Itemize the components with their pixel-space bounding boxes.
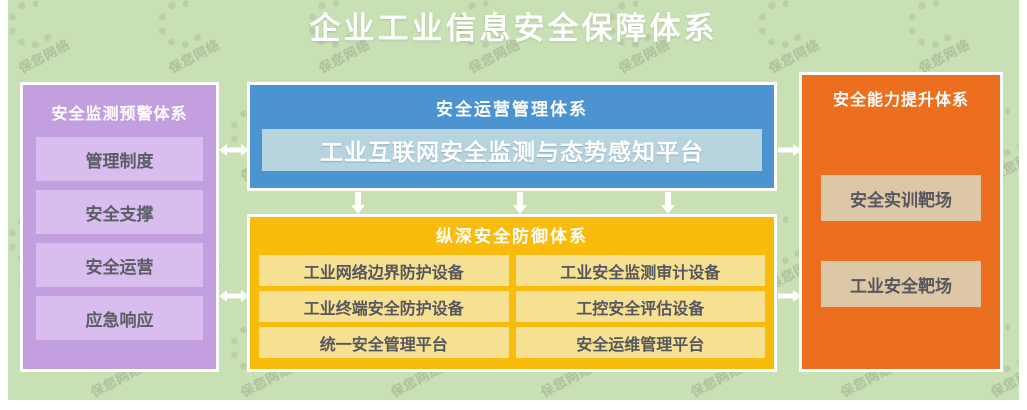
platform-bar-label: 工业互联网安全监测与态势感知平台 (320, 133, 704, 167)
panel-yellow-title: 纵深安全防御体系 (250, 225, 774, 249)
left-item-security-operations[interactable]: 安全运营 (36, 243, 203, 287)
panel-left-title: 安全监测预警体系 (23, 102, 216, 128)
panel-blue-title: 安全运营管理体系 (250, 98, 774, 122)
defense-item-network-boundary[interactable]: 工业网络边界防护设备 (259, 255, 509, 286)
defense-item-monitoring-audit[interactable]: 工业安全监测审计设备 (516, 255, 766, 286)
defense-item-endpoint-protection[interactable]: 工业终端安全防护设备 (259, 291, 509, 322)
arrow-down-icon (350, 192, 366, 214)
defense-item-ops-management-platform[interactable]: 安全运维管理平台 (516, 327, 766, 358)
panel-security-monitoring-warning[interactable]: 安全监测预警体系 管理制度 安全支撑 安全运营 应急响应 (20, 82, 219, 372)
diagram-canvas: 保您网络保您网络保您网络保您网络保您网络保您网络保您网络保您网络保您网络保您网络… (0, 0, 1027, 410)
arrow-right-icon (778, 142, 802, 158)
left-item-emergency-response[interactable]: 应急响应 (36, 296, 203, 340)
panel-right-title: 安全能力提升体系 (802, 89, 1000, 113)
defense-item-grid: 工业网络边界防护设备 工业安全监测审计设备 工业终端安全防护设备 工控安全评估设… (259, 255, 765, 358)
panel-defense-in-depth[interactable]: 纵深安全防御体系 工业网络边界防护设备 工业安全监测审计设备 工业终端安全防护设… (247, 214, 777, 372)
arrow-down-icon (660, 192, 676, 214)
page-title: 企业工业信息安全保障体系 (0, 6, 1027, 52)
panel-security-operations-management[interactable]: 安全运营管理体系 工业互联网安全监测与态势感知平台 (247, 82, 777, 191)
right-item-industrial-range[interactable]: 工业安全靶场 (821, 261, 981, 307)
defense-item-unified-management-platform[interactable]: 统一安全管理平台 (259, 327, 509, 358)
right-item-training-range[interactable]: 安全实训靶场 (821, 175, 981, 221)
left-item-management-system[interactable]: 管理制度 (36, 137, 203, 181)
arrow-down-icon (512, 192, 528, 214)
double-arrow-horizontal-icon (219, 142, 249, 158)
defense-item-ics-assessment[interactable]: 工控安全评估设备 (516, 291, 766, 322)
platform-bar[interactable]: 工业互联网安全监测与态势感知平台 (262, 129, 762, 171)
panel-capability-improvement[interactable]: 安全能力提升体系 安全实训靶场 工业安全靶场 (799, 72, 1003, 372)
arrow-right-icon (778, 288, 802, 304)
left-item-security-support[interactable]: 安全支撑 (36, 190, 203, 234)
double-arrow-horizontal-icon (219, 288, 249, 304)
